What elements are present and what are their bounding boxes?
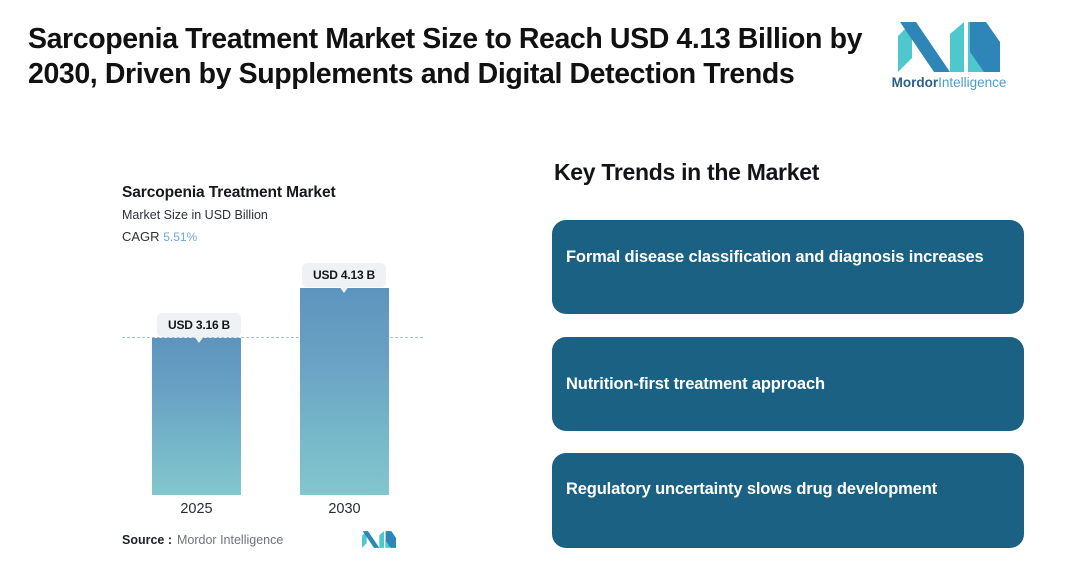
- source-mordor-intelligence-logo-icon: [362, 531, 396, 548]
- page-header: Sarcopenia Treatment Market Size to Reac…: [0, 0, 1066, 140]
- bar-value-label-2025: USD 3.16 B: [157, 313, 241, 337]
- bar-2025: [152, 338, 241, 495]
- key-trends-panel: Key Trends in the Market Formal disease …: [552, 150, 1032, 570]
- brand-wordmark: MordorIntelligence: [888, 75, 1010, 90]
- chart-panel: Sarcopenia Treatment Market Market Size …: [0, 150, 520, 570]
- brand-wordmark-bold: Mordor: [892, 75, 939, 90]
- source-label: Source :: [122, 533, 172, 547]
- trend-card-text: Regulatory uncertainty slows drug develo…: [566, 478, 1006, 501]
- x-axis-tick-2030: 2030: [300, 501, 389, 517]
- bar-value-label-2030: USD 4.13 B: [302, 263, 386, 287]
- mordor-intelligence-logo-icon: [898, 22, 1000, 72]
- brand-logo: MordorIntelligence: [888, 22, 1038, 100]
- source-name: Mordor Intelligence: [177, 533, 283, 547]
- page-title: Sarcopenia Treatment Market Size to Reac…: [28, 22, 873, 92]
- trend-card[interactable]: Nutrition-first treatment approach: [552, 337, 1024, 431]
- trend-card[interactable]: Regulatory uncertainty slows drug develo…: [552, 453, 1024, 548]
- bar-2030: [300, 288, 389, 495]
- trend-card[interactable]: Formal disease classification and diagno…: [552, 220, 1024, 314]
- bar-chart-plot: USD 3.16 B USD 4.13 B 2025 2030: [0, 150, 520, 570]
- brand-wordmark-light: Intelligence: [938, 75, 1006, 90]
- chart-source: Source : Mordor Intelligence: [122, 531, 402, 553]
- key-trends-heading: Key Trends in the Market: [554, 159, 819, 186]
- trend-card-text: Nutrition-first treatment approach: [566, 373, 1006, 396]
- x-axis-tick-2025: 2025: [152, 501, 241, 517]
- trend-card-text: Formal disease classification and diagno…: [566, 246, 1006, 269]
